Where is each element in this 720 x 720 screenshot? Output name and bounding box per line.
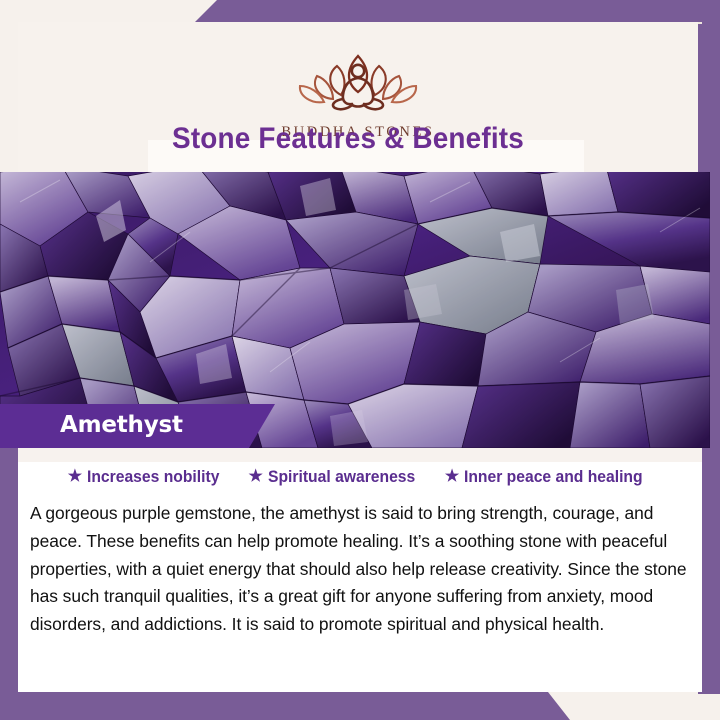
stone-name-label: Amethyst bbox=[60, 412, 183, 438]
benefit-label: Inner peace and healing bbox=[464, 468, 643, 487]
benefit-label: Increases nobility bbox=[87, 468, 219, 487]
infographic-card: BUDDHA STONES Stone Features & Benefits bbox=[0, 0, 720, 720]
frame-band-bottom bbox=[0, 692, 570, 720]
benefit-item-2: ★ Spiritual awareness bbox=[249, 468, 423, 487]
benefit-item-3: ★ Inner peace and healing bbox=[445, 468, 652, 487]
stone-description: A gorgeous purple gemstone, the amethyst… bbox=[30, 500, 698, 639]
star-icon: ★ bbox=[68, 469, 82, 485]
frame-band-top bbox=[195, 0, 720, 22]
lotus-meditation-icon bbox=[283, 48, 433, 120]
page-title: Stone Features & Benefits bbox=[145, 122, 550, 156]
benefit-item-1: ★ Increases nobility bbox=[68, 468, 227, 487]
star-icon: ★ bbox=[445, 469, 459, 485]
panel-top-tint bbox=[18, 448, 702, 462]
benefits-list: ★ Increases nobility ★ Spiritual awarene… bbox=[18, 462, 702, 492]
star-icon: ★ bbox=[249, 469, 263, 485]
benefit-label: Spiritual awareness bbox=[268, 468, 415, 487]
